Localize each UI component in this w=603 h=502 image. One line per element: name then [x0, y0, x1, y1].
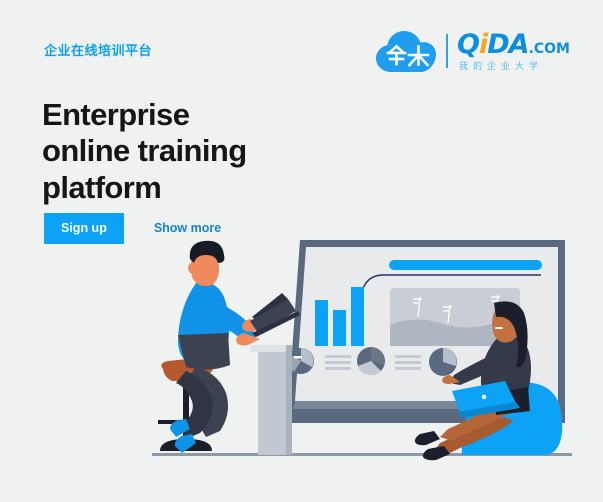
podium [250, 345, 292, 455]
bar-1 [315, 300, 328, 346]
logo-letters-da: DA [487, 31, 528, 58]
logo-tagline: 我的企业大学 [457, 62, 570, 71]
logo-tld: .COM [529, 42, 570, 56]
cloud-logo-icon [375, 28, 437, 74]
text-lines-left [325, 355, 351, 370]
headline-line-1: Enterprise [42, 97, 342, 134]
bar-3 [351, 287, 364, 346]
laptop-logo [482, 395, 486, 399]
page-root: 企业在线培训平台 Enterprise online training plat… [0, 0, 603, 502]
screen-search-bar [389, 260, 542, 270]
headline-line-2: online training [42, 133, 342, 170]
bar-2 [333, 310, 346, 346]
woman-mouth [495, 327, 503, 329]
eyebrow-text: 企业在线培训平台 [44, 40, 152, 59]
hero-illustration [0, 215, 603, 475]
brand-logo[interactable]: Q i DA .COM 我的企业大学 [375, 28, 570, 74]
logo-letter-i: i [479, 31, 487, 58]
donut-chart-right [357, 347, 385, 375]
logo-divider [446, 34, 448, 68]
text-lines-right [395, 355, 421, 370]
logo-wordmark: Q i DA .COM 我的企业大学 [457, 31, 570, 71]
logo-letter-q: Q [457, 31, 479, 58]
page-title: Enterprise online training platform [42, 97, 342, 207]
man-waist [178, 333, 230, 370]
woman-shoe-back [415, 431, 440, 445]
donut-chart-third [429, 348, 457, 376]
headline-line-3: platform [42, 170, 342, 207]
